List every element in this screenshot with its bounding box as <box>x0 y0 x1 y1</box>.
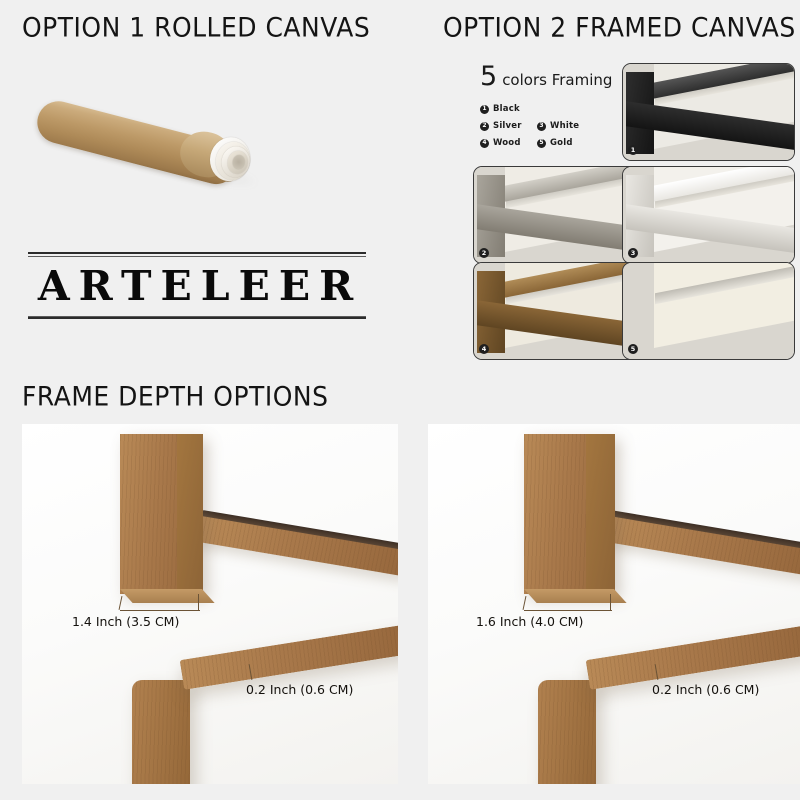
option2-heading: OPTION 2 FRAMED CANVAS <box>443 12 796 43</box>
swatch-card-wood[interactable]: 4 <box>473 262 646 360</box>
canvas-depth-label: 0.2 Inch (0.6 CM) <box>246 682 353 697</box>
frame-depth-heading: FRAME DEPTH OPTIONS <box>22 381 328 412</box>
frame-corner-art <box>623 64 794 160</box>
dim-leader-line <box>523 596 527 610</box>
frame-corner-art <box>474 167 645 263</box>
brand-rule-bottom <box>28 317 366 319</box>
swatch-photo <box>474 263 645 359</box>
option1-heading: OPTION 1 ROLLED CANVAS <box>22 12 370 43</box>
swatch-card-silver[interactable]: 2 <box>473 166 646 264</box>
frame-width-label: 1.4 Inch (3.5 CM) <box>72 614 179 629</box>
dim-leader-line <box>119 596 123 610</box>
swatch-badge-icon: 4 <box>479 344 489 354</box>
infographic-canvas: OPTION 1 ROLLED CANVAS ARTELEER OPTION 2… <box>0 0 800 800</box>
swatch-card-black[interactable]: 1 <box>622 63 795 161</box>
dim-leader-line <box>198 594 199 610</box>
brand-rule-top <box>28 252 366 254</box>
rolled-canvas-tube-image <box>30 62 300 197</box>
vertical-frame-leg <box>524 434 614 594</box>
frame-corner-art <box>474 263 645 359</box>
canvas-depth-label: 0.2 Inch (0.6 CM) <box>652 682 759 697</box>
framing-swatch-grid: 1 2 <box>473 63 793 358</box>
vertical-frame-leg <box>120 434 202 594</box>
swatch-badge-icon: 1 <box>628 145 638 155</box>
swatch-badge-icon: 5 <box>628 344 638 354</box>
brand-name: ARTELEER <box>28 257 366 314</box>
swatch-badge-icon: 3 <box>628 248 638 258</box>
lower-bar-end <box>538 680 596 784</box>
dim-extension-line <box>524 610 612 611</box>
swatch-photo <box>623 263 794 359</box>
lower-bar-end <box>132 680 190 784</box>
swatch-photo <box>474 167 645 263</box>
brand-wordmark: ARTELEER <box>28 252 366 319</box>
swatch-card-white[interactable]: 3 <box>622 166 795 264</box>
canvas-depth-bar <box>586 625 800 690</box>
swatch-photo <box>623 64 794 160</box>
dim-extension-line <box>120 610 200 611</box>
swatch-badge-icon: 2 <box>479 248 489 258</box>
frame-corner-art <box>623 167 794 263</box>
depth-photo-left: 1.4 Inch (3.5 CM) 0.2 Inch (0.6 CM) <box>22 424 398 784</box>
swatch-photo <box>623 167 794 263</box>
frame-corner-art <box>623 263 794 359</box>
canvas-depth-bar <box>180 624 398 690</box>
rolled-canvas-paper <box>203 129 265 191</box>
depth-photo-right: 1.6 Inch (4.0 CM) 0.2 Inch (0.6 CM) <box>428 424 800 784</box>
dim-leader-line <box>610 594 611 610</box>
swatch-card-gold[interactable]: 5 <box>622 262 795 360</box>
frame-width-label: 1.6 Inch (4.0 CM) <box>476 614 583 629</box>
